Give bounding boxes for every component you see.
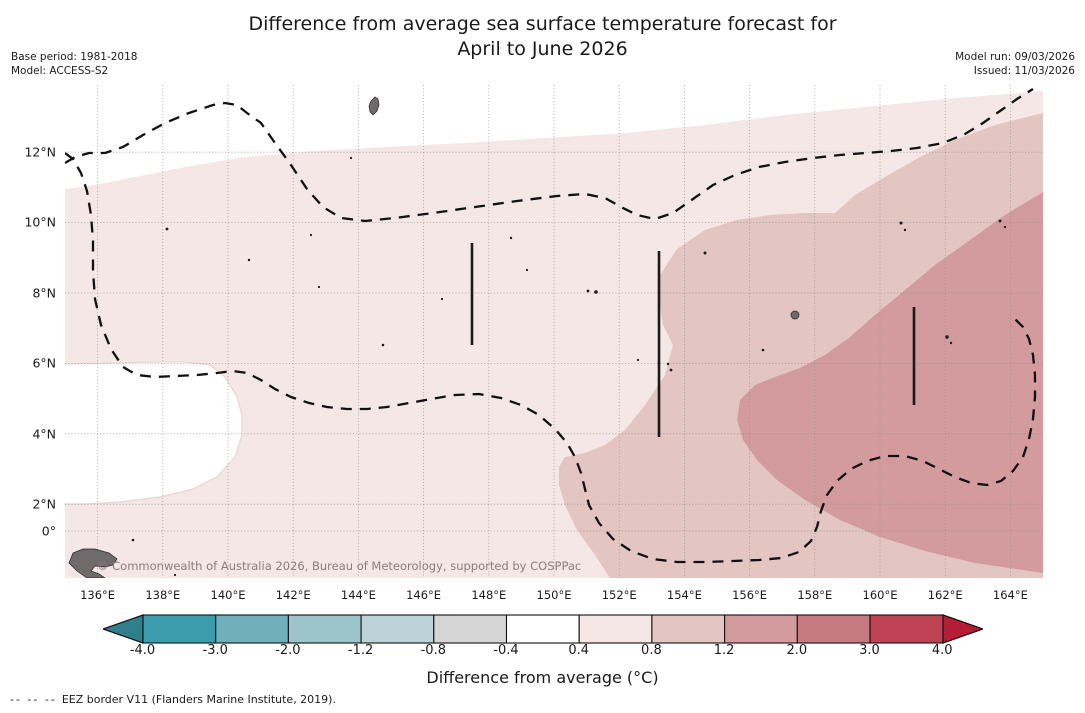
land-nauru <box>791 311 799 319</box>
sst-anomaly-map <box>65 85 1043 578</box>
dashed-line-icon: -- -- -- <box>10 693 57 706</box>
ytick-2n: 2°N <box>32 497 56 512</box>
colorbar <box>0 613 1085 649</box>
colorbar-bin-1.2-to-2 <box>724 615 797 643</box>
colorbar-tick--0.8: -0.8 <box>421 643 446 658</box>
colorbar-tick--2.0: -2.0 <box>275 643 300 658</box>
issued-text: Issued: 11/03/2026 <box>955 64 1075 78</box>
colorbar-tick--1.2: -1.2 <box>348 643 373 658</box>
colorbar-bin--1.2-to--0.8 <box>361 615 434 643</box>
ytick-4n: 4°N <box>32 427 56 442</box>
colorbar-bin--2-to--1.2 <box>288 615 361 643</box>
footnote-text: EEZ border V11 (Flanders Marine Institut… <box>62 693 336 706</box>
colorbar-tick--3.0: -3.0 <box>203 643 228 658</box>
xtick-154e: 154°E <box>667 588 702 602</box>
footnote-eez-legend: -- -- -- EEZ border V11 (Flanders Marine… <box>10 693 336 706</box>
xtick-150e: 150°E <box>537 588 572 602</box>
ytick-10n: 10°N <box>24 215 56 230</box>
xtick-144e: 144°E <box>341 588 376 602</box>
ytick-6n: 6°N <box>32 356 56 371</box>
xtick-156e: 156°E <box>732 588 767 602</box>
colorbar-bin-0.8-to-1.2 <box>651 615 724 643</box>
xtick-142e: 142°E <box>276 588 311 602</box>
metadata-left: Base period: 1981-2018 Model: ACCESS-S2 <box>11 50 137 78</box>
colorbar-bin--3-to--2 <box>215 615 288 643</box>
xtick-162e: 162°E <box>928 588 963 602</box>
colorbar-tick--4.0: -4.0 <box>130 643 155 658</box>
colorbar-bin--4-to--3 <box>143 615 216 643</box>
xtick-152e: 152°E <box>602 588 637 602</box>
ytick-8n: 8°N <box>32 286 56 301</box>
colorbar-bin-3-to-4 <box>870 615 943 643</box>
colorbar-extend-max <box>943 615 983 643</box>
ytick-12n: 12°N <box>24 145 56 160</box>
colorbar-axis-label: Difference from average (°C) <box>0 668 1085 687</box>
xtick-164e: 164°E <box>993 588 1028 602</box>
colorbar-tick-3.0: 3.0 <box>859 643 880 658</box>
colorbar-tick--0.4: -0.4 <box>493 643 518 658</box>
xtick-146e: 146°E <box>406 588 441 602</box>
colorbar-tick-4.0: 4.0 <box>932 643 953 658</box>
colorbar-bin-0.4-to-0.8 <box>579 615 652 643</box>
colorbar-swatches <box>103 613 983 645</box>
colorbar-bin--0.4-to-0.4 <box>506 615 579 643</box>
xtick-148e: 148°E <box>471 588 506 602</box>
colorbar-bin-2-to-3 <box>797 615 870 643</box>
colorbar-extend-min <box>103 615 143 643</box>
metadata-right: Model run: 09/03/2026 Issued: 11/03/2026 <box>955 50 1075 78</box>
xtick-160e: 160°E <box>863 588 898 602</box>
page-title: Difference from average sea surface temp… <box>0 12 1085 62</box>
colorbar-tick-1.2: 1.2 <box>714 643 735 658</box>
xtick-140e: 140°E <box>211 588 246 602</box>
model-text: Model: ACCESS-S2 <box>11 64 137 78</box>
base-period-text: Base period: 1981-2018 <box>11 50 137 64</box>
colorbar-bin--0.8-to--0.4 <box>433 615 506 643</box>
map-plot-area[interactable] <box>65 85 1043 578</box>
xtick-138e: 138°E <box>145 588 180 602</box>
xtick-136e: 136°E <box>80 588 115 602</box>
colorbar-tick-0.8: 0.8 <box>641 643 662 658</box>
colorbar-tick-0.4: 0.4 <box>568 643 589 658</box>
ytick-0: 0° <box>42 524 56 539</box>
model-run-text: Model run: 09/03/2026 <box>955 50 1075 64</box>
colorbar-tick-2.0: 2.0 <box>786 643 807 658</box>
xtick-158e: 158°E <box>797 588 832 602</box>
